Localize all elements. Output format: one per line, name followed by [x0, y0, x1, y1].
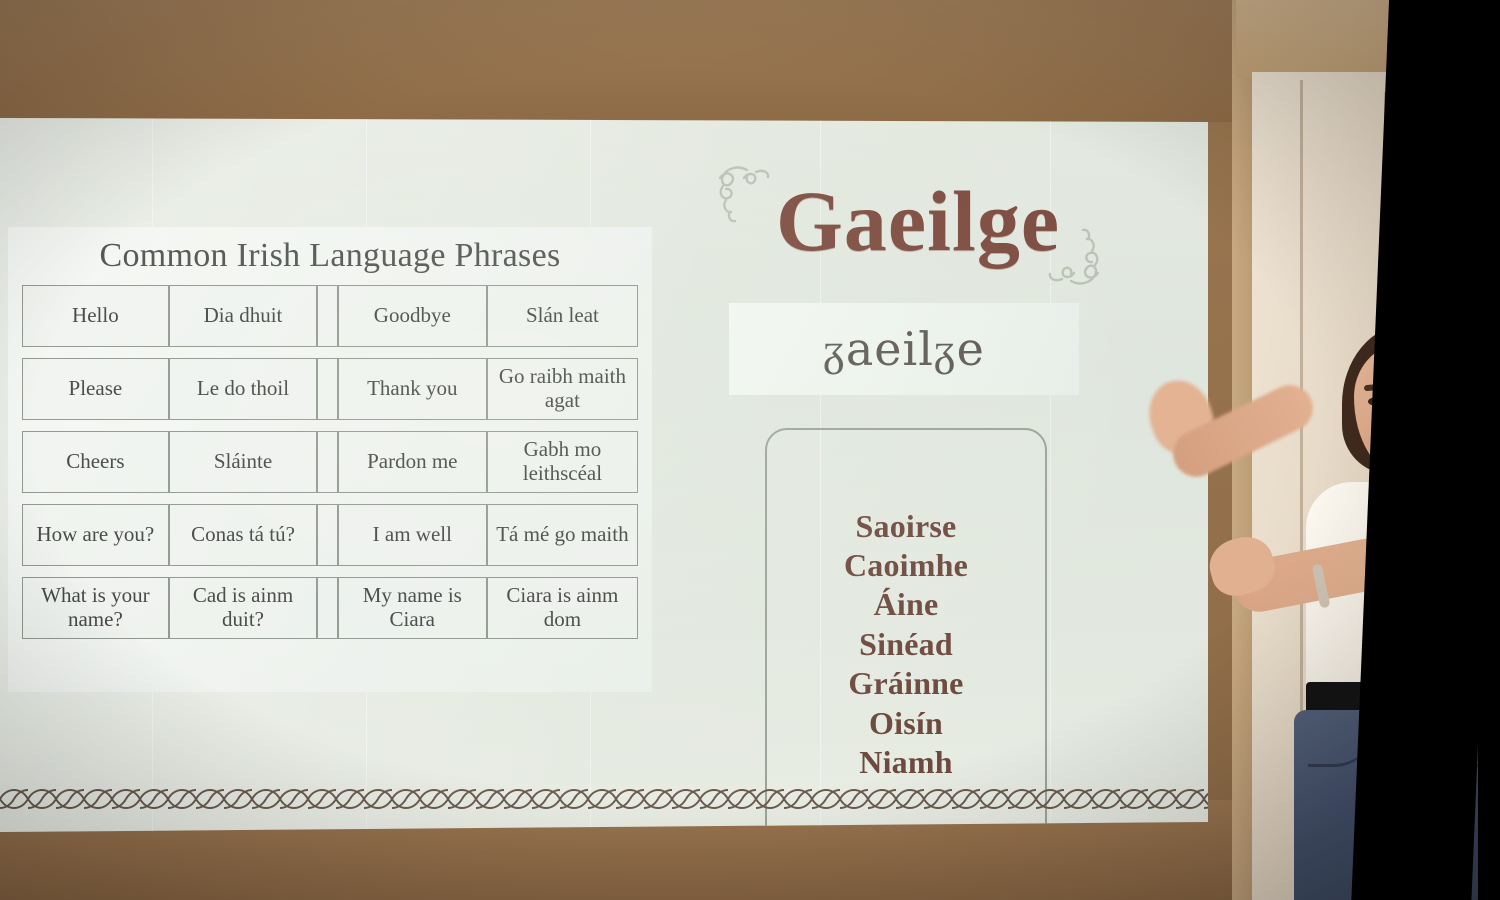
cell-irish: Dia dhuit [169, 285, 318, 347]
cell-english: What is your name? [22, 577, 169, 639]
list-item: Áine [874, 585, 939, 623]
column-gap [317, 285, 337, 347]
cell-irish: Go raibh maith agat [487, 358, 638, 420]
table-row: How are you? Conas tá tú? I am well Tá m… [22, 504, 638, 566]
row-gap [22, 566, 638, 577]
phrases-table: Hello Dia dhuit Goodbye Slán leat Please… [22, 285, 638, 639]
phrases-panel: Common Irish Language Phrases Hello Dia … [8, 227, 652, 692]
column-gap [317, 504, 337, 566]
list-item: Sinéad [859, 625, 953, 663]
scroll-flourish-icon [1038, 220, 1108, 299]
table-row: What is your name? Cad is ainm duit? My … [22, 577, 638, 639]
list-item: Gráinne [848, 664, 963, 702]
column-gap [317, 431, 337, 493]
list-item: Niamh [859, 743, 952, 781]
cell-irish: Tá mé go maith [487, 504, 638, 566]
cell-english: Pardon me [338, 431, 487, 493]
cell-irish: Cad is ainm duit? [169, 577, 318, 639]
table-row: Hello Dia dhuit Goodbye Slán leat [22, 285, 638, 347]
gaelic-script-box: ᵹaeilᵹe [729, 303, 1079, 395]
table-row: Cheers Sláinte Pardon me Gabh mo leithsc… [22, 431, 638, 493]
cell-english: Thank you [338, 358, 487, 420]
cell-irish: Slán leat [487, 285, 638, 347]
cell-irish: Le do thoil [169, 358, 318, 420]
page-title: Common Irish Language Phrases [8, 237, 652, 275]
column-gap [317, 358, 337, 420]
wall-upper-band [0, 0, 1260, 122]
list-item: Caoimhe [844, 546, 968, 584]
celtic-braid-border [0, 786, 1208, 812]
list-item: Saoirse [856, 507, 957, 545]
cell-english: Cheers [22, 431, 169, 493]
row-gap [22, 493, 638, 504]
cell-irish: Gabh mo leithscéal [487, 431, 638, 493]
row-gap [22, 347, 638, 358]
cell-english: I am well [338, 504, 487, 566]
table-row: Please Le do thoil Thank you Go raibh ma… [22, 358, 638, 420]
cell-irish: Ciara is ainm dom [487, 577, 638, 639]
phrases-table-body: Hello Dia dhuit Goodbye Slán leat Please… [22, 285, 638, 639]
list-item: Oisín [869, 704, 943, 742]
gaelic-script-text: ᵹaeilᵹe [823, 322, 985, 376]
row-gap [22, 420, 638, 431]
cell-english: Hello [22, 285, 169, 347]
right-edge-black [1478, 0, 1500, 900]
cell-english: My name is Ciara [338, 577, 487, 639]
cell-english: How are you? [22, 504, 169, 566]
cell-irish: Conas tá tú? [169, 504, 318, 566]
screenshot-scene: Common Irish Language Phrases Hello Dia … [0, 0, 1500, 900]
projected-slide: Common Irish Language Phrases Hello Dia … [0, 118, 1208, 832]
cell-english: Please [22, 358, 169, 420]
column-gap [317, 577, 337, 639]
cell-english: Goodbye [338, 285, 487, 347]
gaeilge-heading-group: Gaeilge [700, 148, 1130, 288]
cell-irish: Sláinte [169, 431, 318, 493]
